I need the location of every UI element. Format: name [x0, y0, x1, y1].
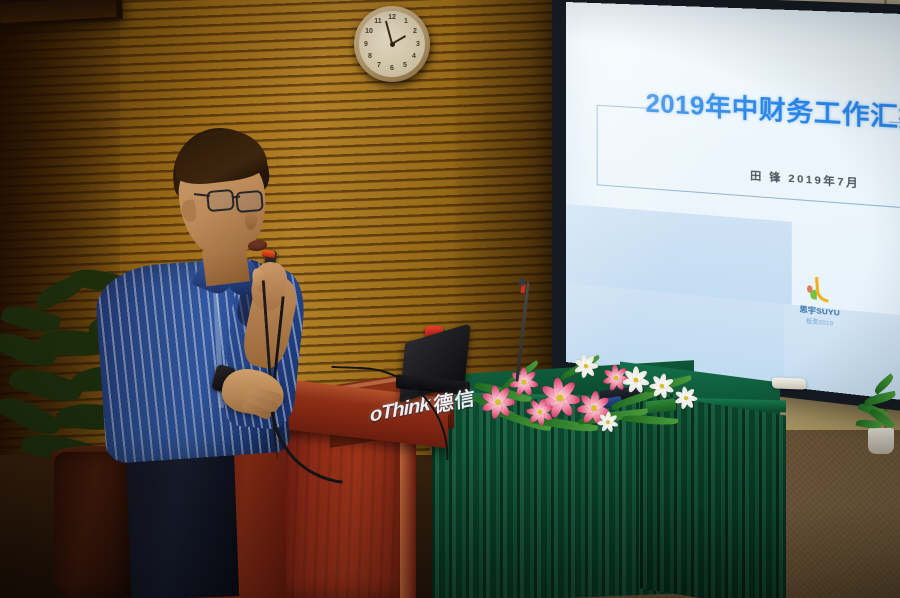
white-flower [572, 352, 601, 381]
flower-arrangement [470, 342, 700, 452]
clock-number: 12 [387, 14, 397, 21]
clock-number: 4 [409, 53, 419, 60]
slide-title-block: 2019年中财务工作汇报 田 锋 2019年7月 [596, 101, 900, 219]
glasses-right-lens [235, 190, 264, 213]
clock-number: 7 [374, 62, 384, 69]
clock-center-pin [390, 42, 395, 47]
clock-number: 6 [387, 65, 397, 72]
slide-company-logo: 思宇SUYU 投资2019 [781, 273, 860, 330]
clock-face: 12 1 2 3 4 5 6 7 8 9 10 11 [359, 11, 425, 77]
glasses-left-lens [206, 189, 235, 212]
clock-number: 3 [413, 41, 423, 48]
plant-leaf [863, 391, 896, 406]
clock-number: 1 [401, 18, 411, 25]
pink-lily [524, 396, 556, 428]
logo-hook-icon [805, 276, 833, 306]
clock-number: 5 [400, 62, 410, 69]
table-white-object [772, 377, 807, 389]
white-flower [596, 410, 621, 435]
conference-presentation-photo: 12 1 2 3 4 5 6 7 8 9 10 11 2019年中财务工作汇报 … [0, 0, 900, 598]
fern-leaf [622, 413, 679, 427]
clock-number: 2 [410, 28, 420, 35]
clock-number: 10 [364, 28, 374, 35]
clock-number: 9 [361, 41, 371, 48]
white-flower [672, 384, 699, 411]
clock-number: 11 [373, 18, 383, 25]
potted-plant-right [856, 370, 900, 452]
wall-clock: 12 1 2 3 4 5 6 7 8 9 10 11 [354, 6, 430, 82]
clock-number: 8 [365, 53, 375, 60]
